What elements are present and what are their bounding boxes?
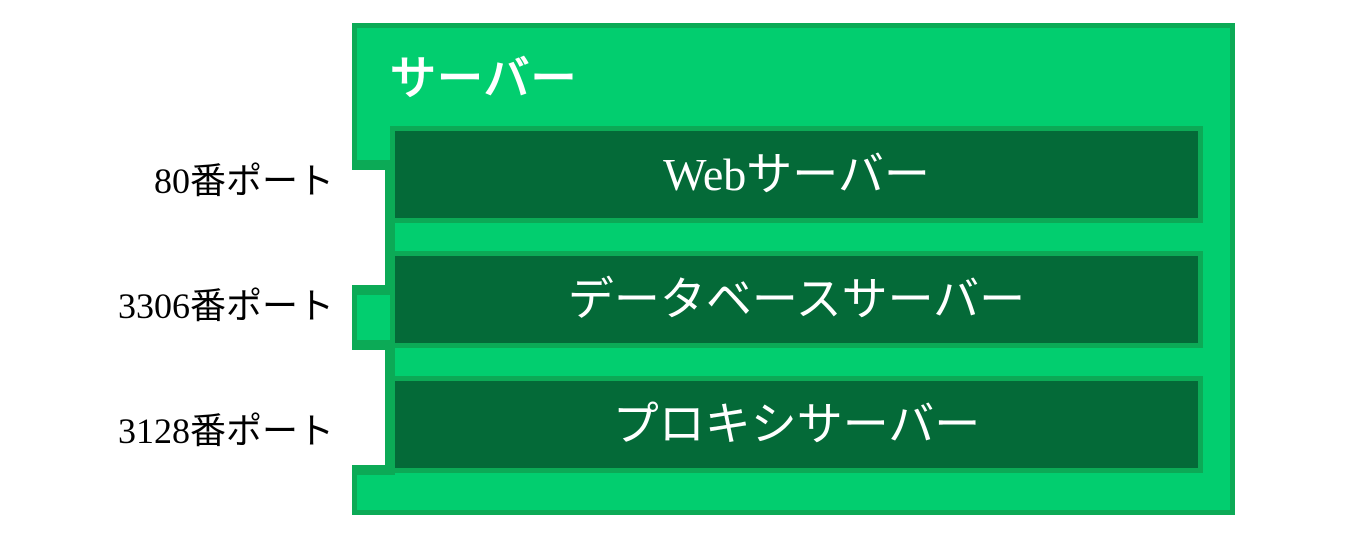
service-box-web-server: Webサーバー <box>390 126 1203 223</box>
service-box-database-server: データベースサーバー <box>390 251 1203 348</box>
service-label-database-server: データベースサーバー <box>568 277 1025 323</box>
server-architecture-diagram: 80番ポート 3306番ポート 3128番ポート サーバー Webサーバー デー… <box>0 0 1354 541</box>
service-label-web-server: Webサーバー <box>663 152 930 198</box>
server-title: サーバー <box>390 55 578 101</box>
server-container: サーバー Webサーバー データベースサーバー プロキシサーバー <box>352 23 1235 515</box>
service-label-proxy-server: プロキシサーバー <box>613 402 981 448</box>
port-label-3306: 3306番ポート <box>34 288 334 324</box>
service-box-proxy-server: プロキシサーバー <box>390 376 1203 473</box>
port-label-80: 80番ポート <box>34 163 334 199</box>
port-label-3128: 3128番ポート <box>34 413 334 449</box>
